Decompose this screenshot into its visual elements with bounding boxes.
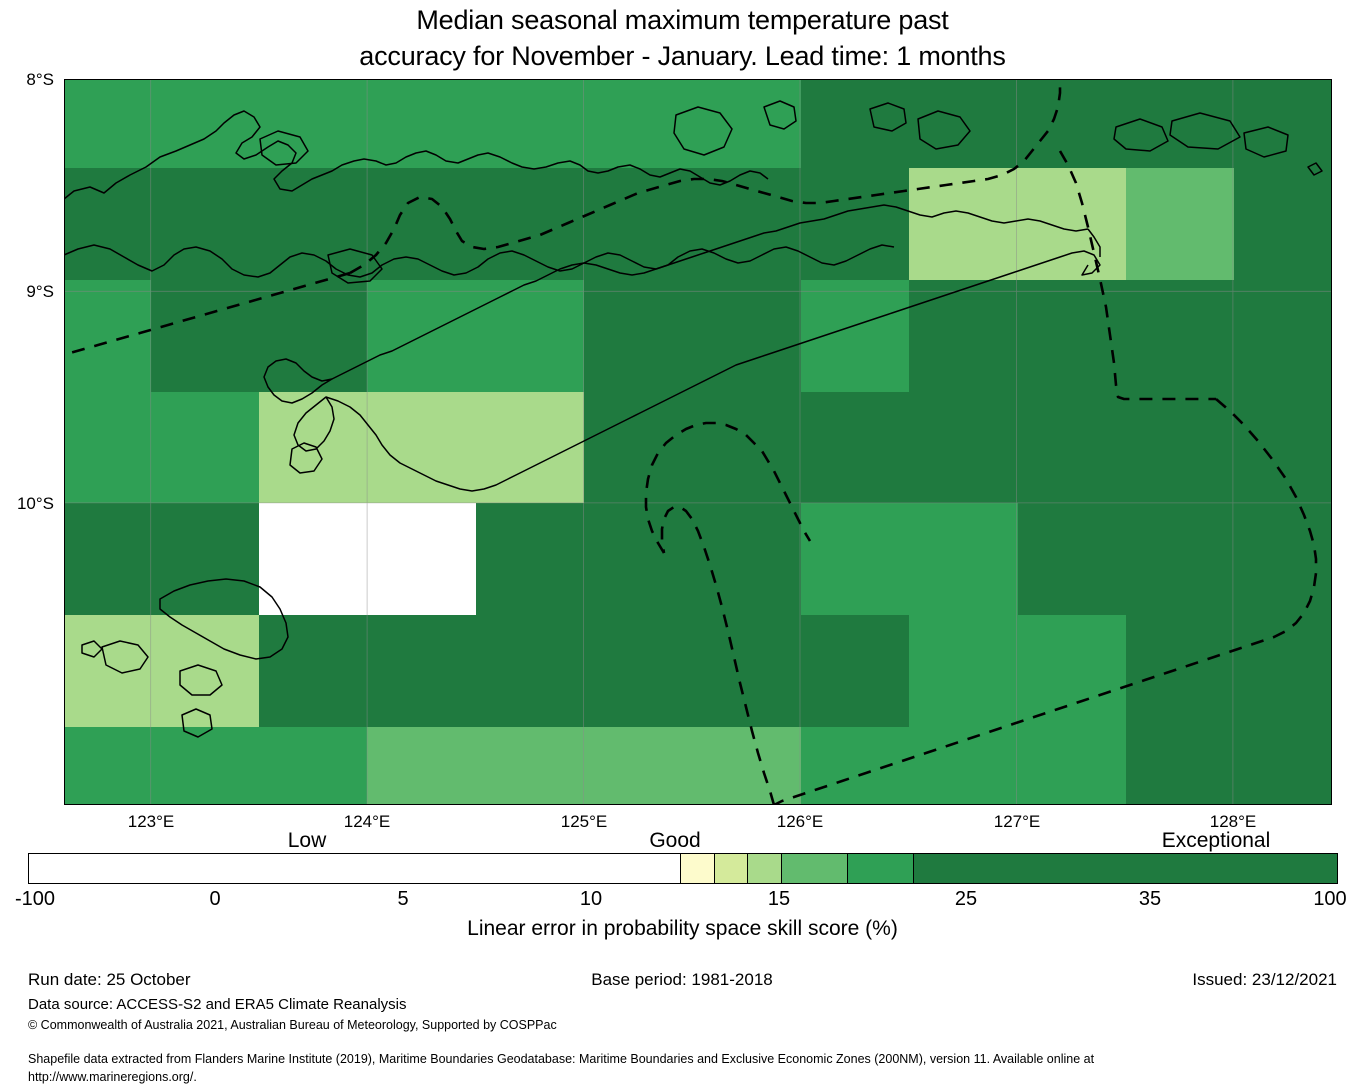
colorbar-quality-good: Good xyxy=(649,829,700,853)
colorbar-tick--100: -100 xyxy=(15,888,55,911)
heatmap-cell xyxy=(151,392,260,504)
heatmap-cell xyxy=(1018,503,1127,615)
heatmap-cell xyxy=(367,168,476,280)
colorbar-tick-100: 100 xyxy=(1313,888,1346,911)
heatmap-cell xyxy=(259,168,368,280)
heatmap-cell xyxy=(693,392,802,504)
title-line-1: Median seasonal maximum temperature past xyxy=(0,2,1365,38)
heatmap-cell xyxy=(367,615,476,727)
heatmap-cell xyxy=(1234,727,1332,805)
heatmap-cell xyxy=(151,280,260,392)
heatmap-cell xyxy=(64,168,151,280)
colorbar-segment-35-to-100 xyxy=(913,854,1337,883)
heatmap-cell xyxy=(64,615,151,727)
colorbar[interactable] xyxy=(28,853,1338,884)
heatmap-cell xyxy=(151,727,260,805)
heatmap-cell xyxy=(801,615,910,727)
heatmap-cell xyxy=(693,280,802,392)
heatmap-cell xyxy=(909,503,1018,615)
heatmap-cell xyxy=(367,79,476,169)
heatmap-cell xyxy=(476,79,585,169)
heatmap-cell xyxy=(1126,280,1235,392)
heatmap-cell xyxy=(909,168,1018,280)
heatmap-cell xyxy=(801,503,910,615)
colorbar-segment-10-to-15 xyxy=(747,854,781,883)
heatmap-cell xyxy=(367,280,476,392)
heatmap-cell xyxy=(64,727,151,805)
heatmap-cell xyxy=(909,392,1018,504)
heatmap-cell xyxy=(476,727,585,805)
heatmap-cell xyxy=(1126,392,1235,504)
heatmap-cell xyxy=(1234,168,1332,280)
heatmap-cell xyxy=(64,79,151,169)
footer-shapefile-line-1: Shapefile data extracted from Flanders M… xyxy=(28,1052,1094,1066)
heatmap-cell xyxy=(1126,615,1235,727)
heatmap-cell xyxy=(693,615,802,727)
heatmap-cell xyxy=(693,503,802,615)
colorbar-tick-35: 35 xyxy=(1139,888,1161,911)
heatmap-cell xyxy=(1018,727,1127,805)
heatmap-cell xyxy=(1126,79,1235,169)
heatmap-cell xyxy=(1018,615,1127,727)
heatmap-cell xyxy=(1234,79,1332,169)
heatmap-cell xyxy=(1018,280,1127,392)
heatmap-cell xyxy=(1234,503,1332,615)
heatmap-cell xyxy=(584,280,693,392)
heatmap-cell xyxy=(909,727,1018,805)
heatmap-cell xyxy=(801,280,910,392)
heatmap-cell xyxy=(1018,79,1127,169)
map-canvas xyxy=(64,79,1332,805)
heatmap-cell xyxy=(801,727,910,805)
heatmap-cell xyxy=(259,727,368,805)
title-line-2: accuracy for November - January. Lead ti… xyxy=(0,38,1365,74)
y-tick-10S: 10°S xyxy=(0,494,54,514)
heatmap-cell xyxy=(1126,168,1235,280)
heatmap-cell xyxy=(151,79,260,169)
page-title: Median seasonal maximum temperature past… xyxy=(0,2,1365,74)
heatmap-cell xyxy=(584,168,693,280)
heatmap-cell xyxy=(476,168,585,280)
heatmap-cell xyxy=(1234,615,1332,727)
heatmap-cell xyxy=(367,727,476,805)
heatmap-cell xyxy=(693,727,802,805)
colorbar-quality-exceptional: Exceptional xyxy=(1162,829,1271,853)
heatmap-cell xyxy=(259,392,368,504)
footer-data-source: Data source: ACCESS-S2 and ERA5 Climate … xyxy=(28,996,407,1013)
colorbar-tick-25: 25 xyxy=(955,888,977,911)
colorbar-segment-0-to-5 xyxy=(680,854,714,883)
colorbar-segment-25-to-35 xyxy=(847,854,913,883)
skill-score-map xyxy=(64,79,1332,805)
colorbar-segment-5-to-10 xyxy=(714,854,748,883)
x-tick-123E: 123°E xyxy=(128,812,175,832)
footer-run-date: Run date: 25 October xyxy=(28,970,191,990)
heatmap-cell xyxy=(693,168,802,280)
colorbar-gradient xyxy=(28,853,1338,884)
colorbar-quality-low: Low xyxy=(288,829,327,853)
heatmap-cell xyxy=(584,79,693,169)
colorbar-tick-5: 5 xyxy=(397,888,408,911)
heatmap-cell xyxy=(476,392,585,504)
heatmap-cell xyxy=(1126,727,1235,805)
x-tick-127E: 127°E xyxy=(994,812,1041,832)
x-tick-124E: 124°E xyxy=(344,812,391,832)
footer-copyright: © Commonwealth of Australia 2021, Austra… xyxy=(28,1018,557,1032)
colorbar-tick-10: 10 xyxy=(580,888,602,911)
heatmap-cell xyxy=(476,615,585,727)
heatmap-cell xyxy=(1018,168,1127,280)
heatmap-cell xyxy=(909,79,1018,169)
heatmap-cell xyxy=(909,615,1018,727)
heatmap-cell xyxy=(584,503,693,615)
heatmap-cell xyxy=(64,503,151,615)
x-tick-125E: 125°E xyxy=(561,812,608,832)
y-tick-9S: 9°S xyxy=(0,282,54,302)
heatmap-cell xyxy=(151,503,260,615)
heatmap-cell xyxy=(367,392,476,504)
heatmap-cell xyxy=(1234,392,1332,504)
heatmap-cell xyxy=(801,168,910,280)
heatmap-cell xyxy=(367,503,476,615)
colorbar-segment--100-to-0 xyxy=(29,854,680,883)
heatmap-cell xyxy=(1018,392,1127,504)
heatmap-cell xyxy=(259,79,368,169)
heatmap-cell xyxy=(801,392,910,504)
footer-base-period: Base period: 1981-2018 xyxy=(591,970,772,990)
heatmap-cell xyxy=(64,392,151,504)
heatmap-cell xyxy=(584,392,693,504)
colorbar-axis-label: Linear error in probability space skill … xyxy=(0,917,1365,941)
heatmap-cell xyxy=(1126,503,1235,615)
heatmap-cell xyxy=(259,280,368,392)
colorbar-segment-15-to-25 xyxy=(781,854,847,883)
heatmap-cell xyxy=(693,79,802,169)
heatmap-cell xyxy=(476,280,585,392)
y-tick-8S: 8°S xyxy=(0,70,54,90)
colorbar-tick-15: 15 xyxy=(768,888,790,911)
heatmap-cell xyxy=(1234,280,1332,392)
heatmap-cell xyxy=(64,280,151,392)
footer-shapefile-line-2: http://www.marineregions.org/. xyxy=(28,1070,197,1084)
heatmap-cell xyxy=(151,615,260,727)
footer-issued: Issued: 23/12/2021 xyxy=(1192,970,1337,990)
heatmap-cell xyxy=(259,503,368,615)
heatmap-cell xyxy=(584,727,693,805)
heatmap-cell xyxy=(909,280,1018,392)
x-tick-126E: 126°E xyxy=(777,812,824,832)
heatmap-cell xyxy=(801,79,910,169)
heatmap-cell xyxy=(584,615,693,727)
heatmap-cell xyxy=(259,615,368,727)
heatmap-cell xyxy=(151,168,260,280)
colorbar-tick-0: 0 xyxy=(209,888,220,911)
heatmap-cell xyxy=(476,503,585,615)
